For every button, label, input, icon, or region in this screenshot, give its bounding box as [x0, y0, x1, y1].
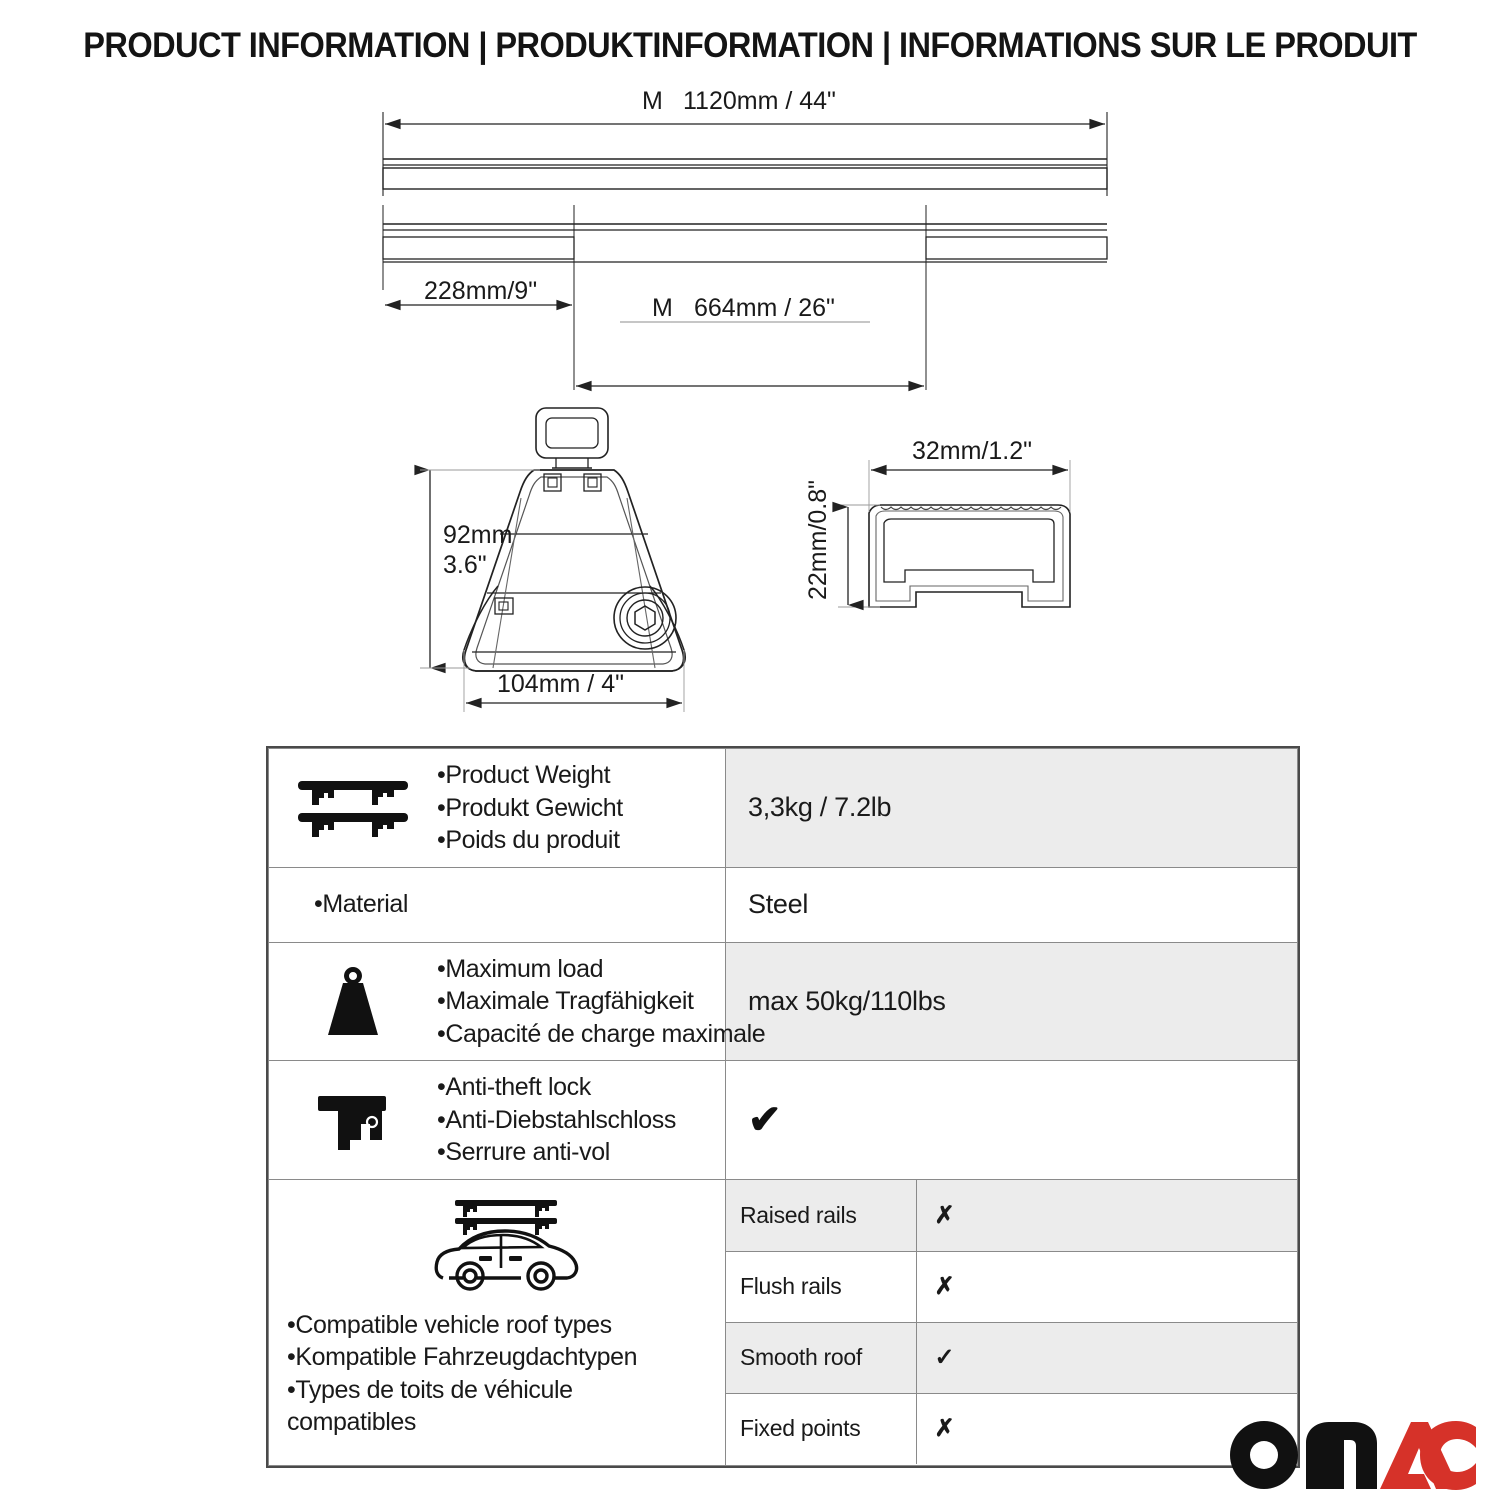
subrow-name: Smooth roof [726, 1322, 916, 1393]
car-with-rack-icon [425, 1194, 585, 1303]
row-weight-value: 3,3kg / 7.2lb [726, 749, 1298, 868]
check-icon: ✔ [748, 1098, 781, 1142]
subrow-name: Fixed points [726, 1393, 916, 1464]
table-row: •Anti-theft lock •Anti-Diebstahlschloss … [269, 1061, 1298, 1180]
profile-width-dim: 32mm/1.2" [912, 437, 1032, 465]
row-maxload-label-cell: •Maximum load •Maximale Tragfähigkeit •C… [269, 942, 726, 1061]
weight-icon [269, 965, 437, 1037]
row-maxload-value: max 50kg/110lbs [726, 942, 1298, 1061]
label-de: •Maximale Tragfähigkeit [437, 985, 765, 1018]
omac-logo [1228, 1418, 1476, 1492]
subrow-mark-cross-icon: ✗ [916, 1251, 1297, 1322]
row-maxload-labels: •Maximum load •Maximale Tragfähigkeit •C… [437, 953, 765, 1051]
logo-letter-m [1306, 1422, 1377, 1489]
subrow-mark-check-icon: ✓ [916, 1322, 1297, 1393]
foot-offset-dim: 228mm/9" [424, 277, 537, 305]
subtable-row: Fixed points ✗ [726, 1393, 1297, 1464]
subrow-mark-cross-icon: ✗ [916, 1180, 1297, 1251]
label-de: •Anti-Diebstahlschloss [437, 1104, 725, 1137]
label-fr: •Types de toits de véhicule [287, 1374, 637, 1407]
row-compat-labels: •Compatible vehicle roof types •Kompatib… [285, 1309, 637, 1439]
label-en: •Maximum load [437, 953, 765, 986]
label-fr: •Serrure anti-vol [437, 1136, 725, 1169]
specifications-table: •Product Weight •Produkt Gewicht •Poids … [266, 746, 1300, 1468]
row-lock-labels: •Anti-theft lock •Anti-Diebstahlschloss … [437, 1071, 725, 1169]
subtable-row: Flush rails ✗ [726, 1251, 1297, 1322]
row-lock-label-cell: •Anti-theft lock •Anti-Diebstahlschloss … [269, 1061, 726, 1180]
label-fr: •Poids du produit [437, 824, 725, 857]
label-fr-cont: compatibles [287, 1406, 637, 1439]
row-weight-labels: •Product Weight •Produkt Gewicht •Poids … [437, 759, 725, 857]
label-en: •Product Weight [437, 759, 725, 792]
omac-logo-svg [1228, 1418, 1476, 1492]
subtable-row: Raised rails ✗ [726, 1180, 1297, 1251]
roof-type-subtable-cell: Raised rails ✗ Flush rails ✗ Smooth roof… [726, 1179, 1298, 1465]
subtable-row: Smooth roof ✓ [726, 1322, 1297, 1393]
roof-type-subtable: Raised rails ✗ Flush rails ✗ Smooth roof… [726, 1180, 1297, 1464]
label-en: •Compatible vehicle roof types [287, 1309, 637, 1342]
label-fr: •Capacité de charge maximale [437, 1018, 765, 1051]
subrow-name: Flush rails [726, 1251, 916, 1322]
label-en: •Material [314, 890, 408, 919]
foot-height-dim-line1: 92mm [443, 521, 512, 549]
row-compat-label-cell: •Compatible vehicle roof types •Kompatib… [269, 1179, 726, 1465]
drawing-svg: M 1120mm / 44" 228mm/9" M 664mm / 26" 92… [0, 0, 1500, 740]
logo-letter-o [1230, 1421, 1298, 1489]
row-material-labels: •Material [269, 890, 725, 919]
table-row: •Maximum load •Maximale Tragfähigkeit •C… [269, 942, 1298, 1061]
roof-bars-icon [269, 777, 437, 839]
profile-height-dim: 22mm/0.8" [804, 480, 832, 600]
technical-drawing: M 1120mm / 44" 228mm/9" M 664mm / 26" 92… [0, 0, 1500, 740]
row-weight-label-cell: •Product Weight •Produkt Gewicht •Poids … [269, 749, 726, 868]
foot-height-dim-line2: 3.6" [443, 551, 487, 579]
row-material-value: Steel [726, 867, 1298, 942]
foot-width-dim: 104mm / 4" [497, 670, 624, 698]
subrow-name: Raised rails [726, 1180, 916, 1251]
table-row: •Material Steel [269, 867, 1298, 942]
spread-dim-value: 664mm / 26" [694, 294, 835, 322]
bar-length-dim-prefix: M [642, 87, 663, 115]
label-en: •Anti-theft lock [437, 1071, 725, 1104]
product-information-page: PRODUCT INFORMATION | PRODUKTINFORMATION… [0, 0, 1500, 1500]
table-row: •Product Weight •Produkt Gewicht •Poids … [269, 749, 1298, 868]
row-lock-value: ✔ [726, 1061, 1298, 1180]
label-de: •Produkt Gewicht [437, 792, 725, 825]
spread-dim-prefix: M [652, 294, 673, 322]
label-de: •Kompatible Fahrzeugdachtypen [287, 1341, 637, 1374]
bar-length-dim-value: 1120mm / 44" [683, 87, 836, 115]
row-material-label-cell: •Material [269, 867, 726, 942]
table-row: •Compatible vehicle roof types •Kompatib… [269, 1179, 1298, 1465]
lock-icon [269, 1090, 437, 1150]
